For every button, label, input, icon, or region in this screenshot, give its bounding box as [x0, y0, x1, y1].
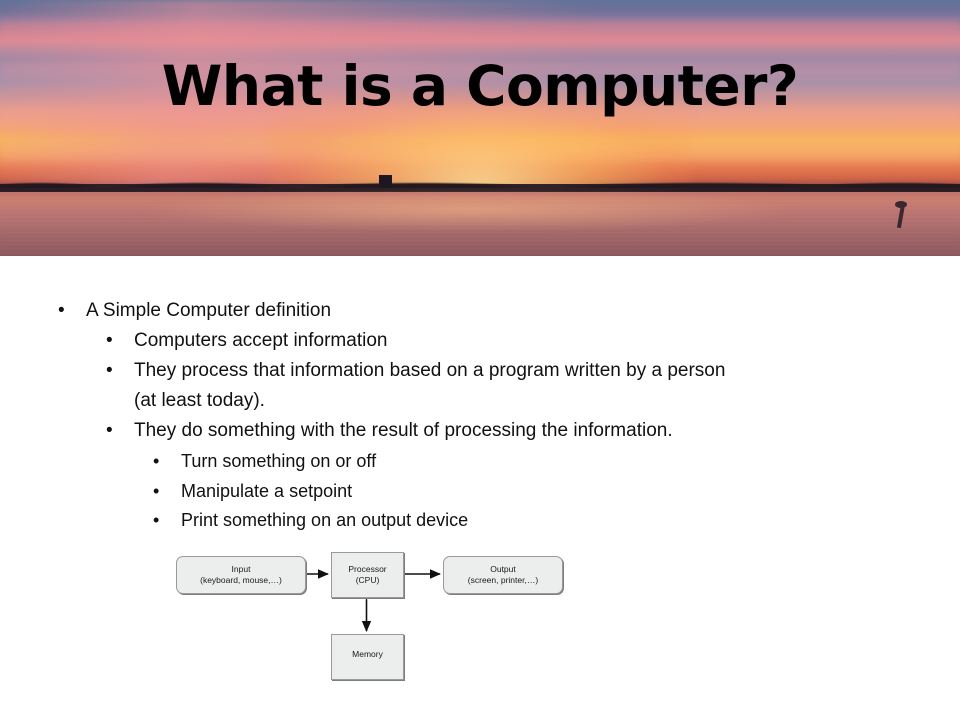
bullet-marker-icon: • [153, 446, 181, 476]
distant-building-silhouette [379, 175, 392, 188]
bullet-marker-icon: • [106, 356, 134, 386]
diagram-box-processor-line2: (CPU) [356, 575, 380, 586]
bullet-text: They process that information based on a… [134, 356, 725, 386]
diagram-box-input-line1: Input [232, 564, 251, 575]
bullet-text: Computers accept information [134, 326, 387, 356]
bullet-item-level3: • Turn something on or off [153, 446, 376, 476]
diagram-box-output-line1: Output [490, 564, 516, 575]
bullet-text: They do something with the result of pro… [134, 416, 673, 446]
diagram-box-processor-line1: Processor [348, 564, 386, 575]
diagram-box-input-line2: (keyboard, mouse,…) [200, 575, 282, 586]
bullet-text: A Simple Computer definition [86, 296, 331, 326]
bullet-item-level3: • Print something on an output device [153, 505, 468, 535]
diagram-box-output-line2: (screen, printer,…) [468, 575, 538, 586]
bullet-marker-icon: • [153, 476, 181, 506]
bullet-text: Manipulate a setpoint [181, 476, 352, 506]
bullet-text-continuation: (at least today). [134, 386, 265, 416]
page-title: What is a Computer? [0, 55, 960, 117]
bullet-item-level2: • They process that information based on… [106, 356, 725, 386]
bullet-item-level2: • Computers accept information [106, 326, 387, 356]
bullet-text: Print something on an output device [181, 505, 468, 535]
diagram-box-output: Output (screen, printer,…) [443, 556, 563, 594]
computer-architecture-diagram: Input (keyboard, mouse,…) Processor (CPU… [170, 548, 570, 688]
water-reflection [0, 192, 960, 256]
bullet-marker-icon: • [106, 326, 134, 356]
diagram-box-processor: Processor (CPU) [331, 552, 404, 598]
diagram-box-memory-line1: Memory [352, 649, 383, 660]
bullet-item-level3: • Manipulate a setpoint [153, 476, 352, 506]
bullet-marker-icon: • [106, 416, 134, 446]
header-banner-image [0, 0, 960, 256]
diagram-box-memory: Memory [331, 634, 404, 680]
bullet-marker-icon: • [58, 296, 86, 326]
diagram-box-input: Input (keyboard, mouse,…) [176, 556, 306, 594]
bullet-text: Turn something on or off [181, 446, 376, 476]
bullet-marker-icon: • [153, 505, 181, 535]
bullet-item-level2: • They do something with the result of p… [106, 416, 673, 446]
bullet-item-level1: • A Simple Computer definition [58, 296, 331, 326]
